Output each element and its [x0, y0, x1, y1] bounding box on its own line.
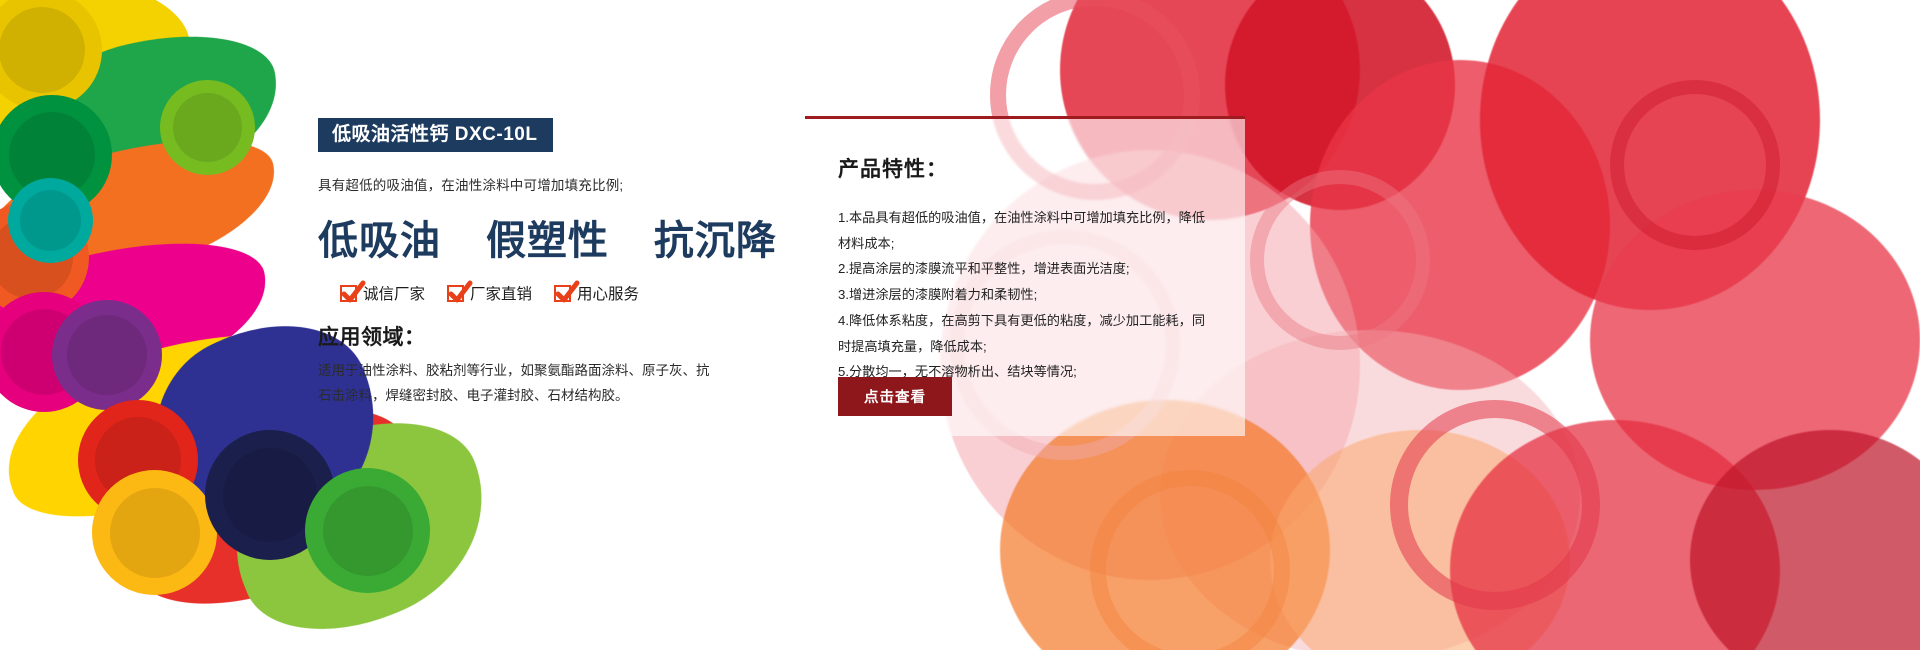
paint-can-green	[0, 95, 112, 215]
paint-can-red	[78, 400, 198, 520]
peach-splash	[1270, 430, 1570, 650]
paint-ring-5	[1610, 80, 1780, 250]
feature-label-1: 诚信厂家	[363, 282, 425, 304]
check-icon	[340, 285, 357, 302]
feature-list: 1.本品具有超低的吸油值，在油性涂料中可增加填充比例，降低材料成本; 2.提高涂…	[838, 205, 1216, 385]
feature-item-3: 用心服务	[554, 282, 639, 304]
paint-can-magenta	[0, 292, 104, 412]
headline-word-2: 假塑性	[486, 218, 609, 264]
product-banner: 低吸油活性钙 DXC-10L 具有超低的吸油值，在油性涂料中可增加填充比例; 低…	[0, 0, 1920, 650]
paint-smear-orange	[0, 115, 290, 304]
list-item: 1.本品具有超低的吸油值，在油性涂料中可增加填充比例，降低材料成本;	[838, 205, 1216, 256]
red-splash-2	[1225, 0, 1455, 210]
red-splash-3	[1310, 60, 1610, 390]
list-item: 2.提高涂层的漆膜流平和平整性，增进表面光洁度;	[838, 256, 1216, 282]
headline-word-1: 低吸油	[318, 218, 441, 264]
feature-label-2: 厂家直销	[470, 282, 532, 304]
paint-can-purple	[52, 300, 162, 410]
application-body: 适用于油性涂料、胶粘剂等行业，如聚氨酯路面涂料、原子灰、抗石击涂料，焊缝密封胶、…	[318, 359, 718, 409]
application-heading: 应用领域：	[318, 321, 738, 351]
check-icon	[447, 285, 464, 302]
product-info-column: 低吸油活性钙 DXC-10L 具有超低的吸油值，在油性涂料中可增加填充比例; 低…	[318, 118, 738, 409]
product-subtitle: 具有超低的吸油值，在油性涂料中可增加填充比例;	[318, 174, 738, 194]
red-splash-4	[1480, 0, 1820, 310]
feature-item-1: 诚信厂家	[340, 282, 425, 304]
headline-word-3: 抗沉降	[654, 218, 777, 264]
paint-can-navy	[205, 430, 335, 560]
list-item: 3.增进涂层的漆膜附着力和柔韧性;	[838, 282, 1216, 308]
paint-ring-2	[1250, 170, 1430, 350]
panel-heading: 产品特性：	[838, 153, 948, 183]
paint-smear-lime	[204, 388, 516, 650]
view-details-button[interactable]: 点击查看	[838, 377, 952, 416]
paint-smear-green	[18, 16, 292, 205]
paint-smear-yellow	[0, 0, 190, 140]
red-splash-5	[1590, 190, 1920, 490]
paint-can-green-2	[305, 468, 430, 593]
paint-can-orange	[0, 200, 89, 315]
product-headline: 低吸油 假塑性 抗沉降	[318, 208, 738, 266]
paint-smear-red	[100, 374, 440, 636]
check-icon	[554, 285, 571, 302]
paint-can-yellow	[0, 0, 102, 110]
paint-ring-3	[1390, 400, 1600, 610]
orange-splash	[1000, 400, 1330, 650]
paint-can-yellow-2	[92, 470, 217, 595]
crimson-splash	[1690, 430, 1920, 650]
feature-label-3: 用心服务	[577, 282, 639, 304]
red-splash-6	[1450, 420, 1780, 650]
paint-can-lime	[160, 80, 255, 175]
list-item: 4.降低体系粘度，在高剪下具有更低的粘度，减少加工能耗，同时提高填充量，降低成本…	[838, 308, 1216, 359]
paint-smear-yellow-2	[0, 303, 345, 548]
feature-item-2: 厂家直销	[447, 282, 532, 304]
product-features-panel: 产品特性： 1.本品具有超低的吸油值，在油性涂料中可增加填充比例，降低材料成本;…	[805, 116, 1245, 436]
paint-smear-magenta	[0, 220, 280, 410]
feature-badges: 诚信厂家 厂家直销 用心服务	[340, 282, 738, 304]
product-title-badge: 低吸油活性钙 DXC-10L	[318, 118, 553, 152]
paint-ring-6	[1090, 470, 1290, 650]
paint-can-teal	[8, 178, 93, 263]
